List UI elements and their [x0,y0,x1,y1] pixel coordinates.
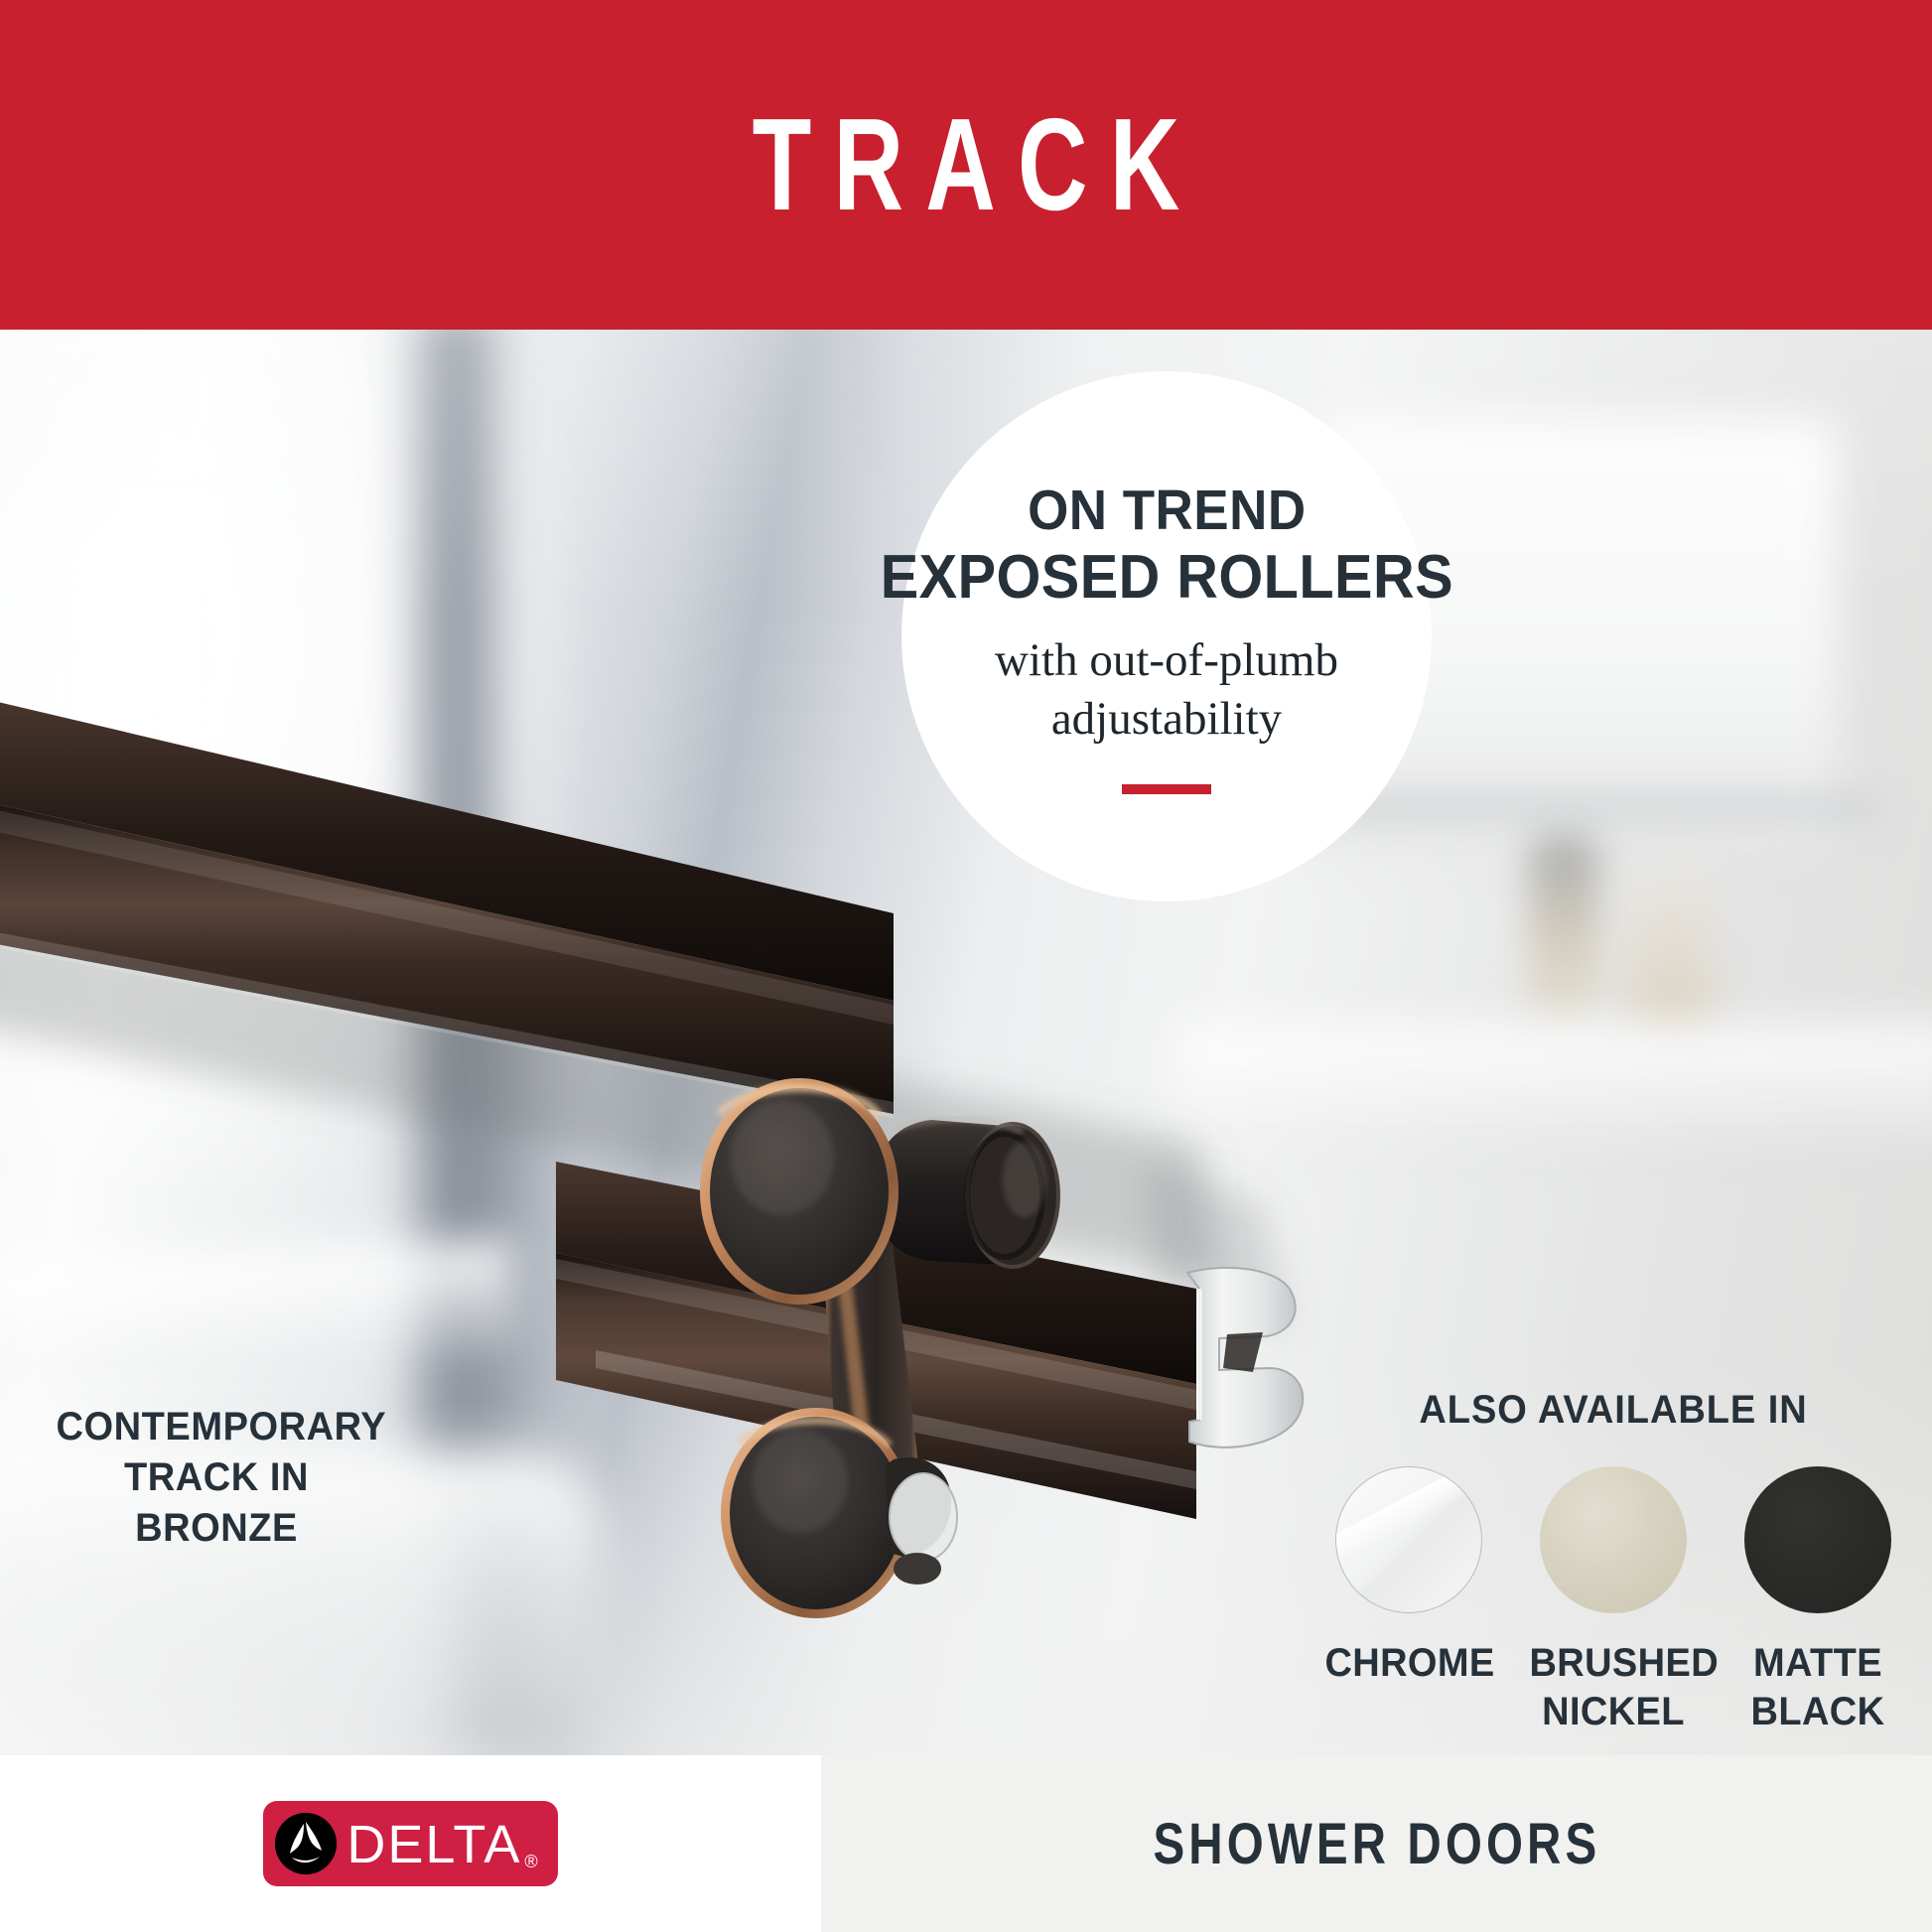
roller-disc-top [700,1078,898,1305]
callout-headline-line2: EXPOSED ROLLERS [880,543,1452,614]
feature-callout: ON TREND EXPOSED ROLLERS with out-of-plu… [901,371,1432,901]
callout-subtext-line2: adjustability [995,690,1338,749]
footer-brand-panel: DELTA ® [0,1755,821,1932]
black-label-line1: MATTE [1733,1639,1901,1688]
footer-bar: DELTA ® SHOWER DOORS [0,1755,1932,1932]
callout-headline-line1: ON TREND [1028,479,1307,542]
black-label-line2: BLACK [1733,1688,1901,1736]
page-title: TRACK [730,99,1201,230]
registered-trademark-icon: ® [524,1852,537,1872]
footer-tagline-panel: SHOWER DOORS [821,1755,1932,1932]
footer-tagline: SHOWER DOORS [1153,1811,1600,1877]
finish-option-matte-black[interactable]: MATTE BLACK [1729,1466,1906,1736]
nickel-label-line1: BRUSHED [1529,1639,1697,1688]
callout-accent-rule [1122,784,1211,794]
roller-disc-bottom [721,1408,911,1618]
chrome-swatch-icon [1335,1466,1482,1613]
callout-subtext-line1: with out-of-plumb [995,631,1338,690]
product-caption-line3: BRONZE [57,1503,377,1554]
delta-logo[interactable]: DELTA ® [263,1801,557,1886]
roller-axle [886,1457,957,1585]
available-finishes: ALSO AVAILABLE IN CHROME BRUSHED NICKEL [1320,1388,1906,1736]
finishes-title: ALSO AVAILABLE IN [1335,1388,1892,1433]
chrome-label-line1: CHROME [1324,1639,1492,1688]
header-banner: TRACK [0,0,1932,330]
callout-subtext: with out-of-plumb adjustability [995,631,1338,749]
swatch-row: CHROME BRUSHED NICKEL MATTE BLACK [1320,1466,1906,1736]
matte-black-swatch-label: MATTE BLACK [1733,1639,1901,1736]
delta-wordmark: DELTA [346,1818,521,1871]
roller-hub [874,1119,1058,1267]
brushed-nickel-swatch-label: BRUSHED NICKEL [1529,1639,1697,1736]
finish-option-brushed-nickel[interactable]: BRUSHED NICKEL [1525,1466,1702,1736]
product-caption: CONTEMPORARY TRACK IN BRONZE [57,1402,377,1555]
hero-photo: ON TREND EXPOSED ROLLERS with out-of-plu… [0,330,1932,1755]
brushed-nickel-swatch-icon [1540,1466,1687,1613]
product-caption-line1: CONTEMPORARY [57,1402,377,1452]
track-end-channel [1187,1268,1303,1448]
product-caption-line2: TRACK IN [57,1452,377,1503]
chrome-swatch-label: CHROME [1324,1639,1492,1688]
delta-triangle-icon [275,1813,337,1874]
matte-black-swatch-icon [1744,1466,1891,1613]
finish-option-chrome[interactable]: CHROME [1320,1466,1497,1688]
callout-headline: ON TREND EXPOSED ROLLERS [880,479,1452,614]
product-marketing-image: TRACK [0,0,1932,1932]
nickel-label-line2: NICKEL [1529,1688,1697,1736]
